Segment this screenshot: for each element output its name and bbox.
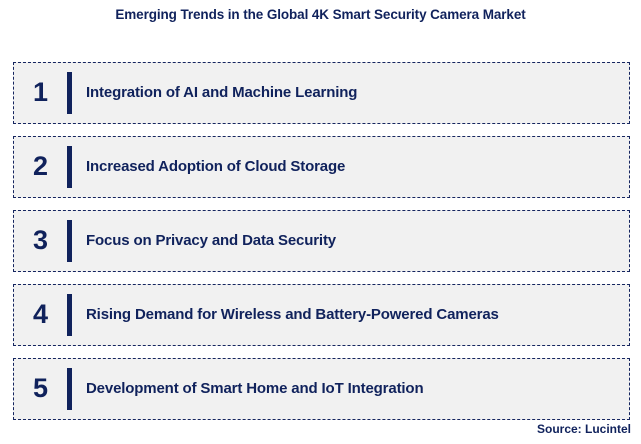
trend-label: Increased Adoption of Cloud Storage <box>72 158 629 176</box>
trend-rank-number: 4 <box>14 301 67 330</box>
trend-rank-number: 3 <box>14 227 67 256</box>
list-item[interactable]: 1 Integration of AI and Machine Learning <box>13 62 630 124</box>
trend-rank-number: 5 <box>14 375 67 404</box>
trend-list: 1 Integration of AI and Machine Learning… <box>13 62 630 420</box>
list-item[interactable]: 5 Development of Smart Home and IoT Inte… <box>13 358 630 420</box>
source-note: Source: Lucintel <box>537 422 631 436</box>
list-item[interactable]: 2 Increased Adoption of Cloud Storage <box>13 136 630 198</box>
trend-label: Rising Demand for Wireless and Battery-P… <box>72 306 629 324</box>
trend-label: Development of Smart Home and IoT Integr… <box>72 380 629 398</box>
list-item[interactable]: 3 Focus on Privacy and Data Security <box>13 210 630 272</box>
trend-label: Focus on Privacy and Data Security <box>72 232 629 250</box>
list-item[interactable]: 4 Rising Demand for Wireless and Battery… <box>13 284 630 346</box>
trend-label: Integration of AI and Machine Learning <box>72 84 629 102</box>
trends-infographic: Emerging Trends in the Global 4K Smart S… <box>0 0 641 444</box>
trend-rank-number: 2 <box>14 153 67 182</box>
trend-rank-number: 1 <box>14 79 67 108</box>
page-title: Emerging Trends in the Global 4K Smart S… <box>0 6 641 23</box>
